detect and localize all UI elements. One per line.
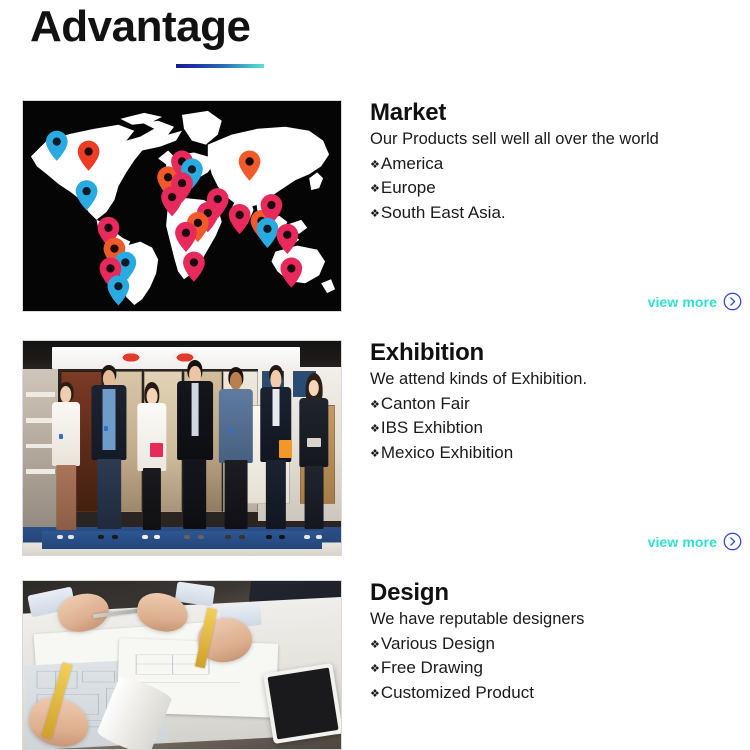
bullet-text: Free Drawing xyxy=(381,658,483,677)
bullet-text: Europe xyxy=(381,178,436,197)
list-item: ❖Europe xyxy=(370,176,742,200)
diamond-bullet-icon: ❖ xyxy=(370,182,380,198)
section-title-design: Design xyxy=(370,580,742,607)
diamond-bullet-icon: ❖ xyxy=(370,422,380,438)
diamond-bullet-icon: ❖ xyxy=(370,447,380,463)
bullet-text: Mexico Exhibition xyxy=(381,443,513,462)
design-text-block: Design We have reputable designers ❖Vari… xyxy=(370,580,742,705)
diamond-bullet-icon: ❖ xyxy=(370,158,380,174)
diamond-bullet-icon: ❖ xyxy=(370,638,380,654)
bullet-text: Canton Fair xyxy=(381,394,470,413)
section-subtitle-exhibition: We attend kinds of Exhibition. xyxy=(370,369,742,391)
world-map-svg xyxy=(23,101,341,311)
section-title-market: Market xyxy=(370,100,742,127)
person-figure xyxy=(176,360,214,535)
list-item: ❖Mexico Exhibition xyxy=(370,441,742,465)
booth-logo-icon xyxy=(118,351,144,364)
section-subtitle-design: We have reputable designers xyxy=(370,609,742,631)
list-item: ❖South East Asia. xyxy=(370,201,742,225)
person-figure xyxy=(48,382,83,536)
person-figure xyxy=(296,373,331,536)
list-item: ❖Customized Product xyxy=(370,681,742,705)
tablet-device xyxy=(263,663,341,744)
title-underline-accent xyxy=(176,64,264,68)
design-desk-scene xyxy=(23,581,341,749)
chevron-right-circle-icon xyxy=(723,292,742,311)
view-more-link-exhibition[interactable]: view more xyxy=(648,532,742,551)
bullet-text: Various Design xyxy=(381,634,495,653)
diamond-bullet-icon: ❖ xyxy=(370,687,380,703)
market-text-block: Market Our Products sell well all over t… xyxy=(370,100,742,225)
map-canvas xyxy=(23,101,341,311)
bullet-text: America xyxy=(381,154,443,173)
section-title-exhibition: Exhibition xyxy=(370,340,742,367)
person-figure xyxy=(134,382,169,536)
list-item: ❖America xyxy=(370,152,742,176)
page-title: Advantage xyxy=(30,2,250,53)
list-item: ❖IBS Exhibtion xyxy=(370,416,742,440)
bullet-text: Customized Product xyxy=(381,683,534,702)
diamond-bullet-icon: ❖ xyxy=(370,398,380,414)
design-photo xyxy=(22,580,342,750)
view-more-link-market[interactable]: view more xyxy=(648,292,742,311)
view-more-label: view more xyxy=(648,534,717,550)
exhibition-booth-scene xyxy=(23,341,341,555)
bullet-text: IBS Exhibtion xyxy=(381,418,483,437)
list-item: ❖Various Design xyxy=(370,632,742,656)
diamond-bullet-icon: ❖ xyxy=(370,207,380,223)
view-more-label: view more xyxy=(648,294,717,310)
exhibition-photo xyxy=(22,340,342,556)
section-subtitle-market: Our Products sell well all over the worl… xyxy=(370,129,742,151)
chevron-right-circle-icon xyxy=(723,532,742,551)
person-figure xyxy=(217,367,255,536)
advantage-page: Advantage xyxy=(0,0,750,750)
tablet-screen xyxy=(267,668,338,739)
exhibition-bullet-list: ❖Canton Fair ❖IBS Exhibtion ❖Mexico Exhi… xyxy=(370,392,742,465)
person-figure xyxy=(90,365,128,536)
diamond-bullet-icon: ❖ xyxy=(370,662,380,678)
list-item: ❖Free Drawing xyxy=(370,656,742,680)
person-figure xyxy=(258,365,293,536)
exhibition-text-block: Exhibition We attend kinds of Exhibition… xyxy=(370,340,742,465)
world-map-image xyxy=(22,100,342,312)
list-item: ❖Canton Fair xyxy=(370,392,742,416)
bullet-text: South East Asia. xyxy=(381,203,506,222)
market-bullet-list: ❖America ❖Europe ❖South East Asia. xyxy=(370,152,742,225)
design-bullet-list: ❖Various Design ❖Free Drawing ❖Customize… xyxy=(370,632,742,705)
